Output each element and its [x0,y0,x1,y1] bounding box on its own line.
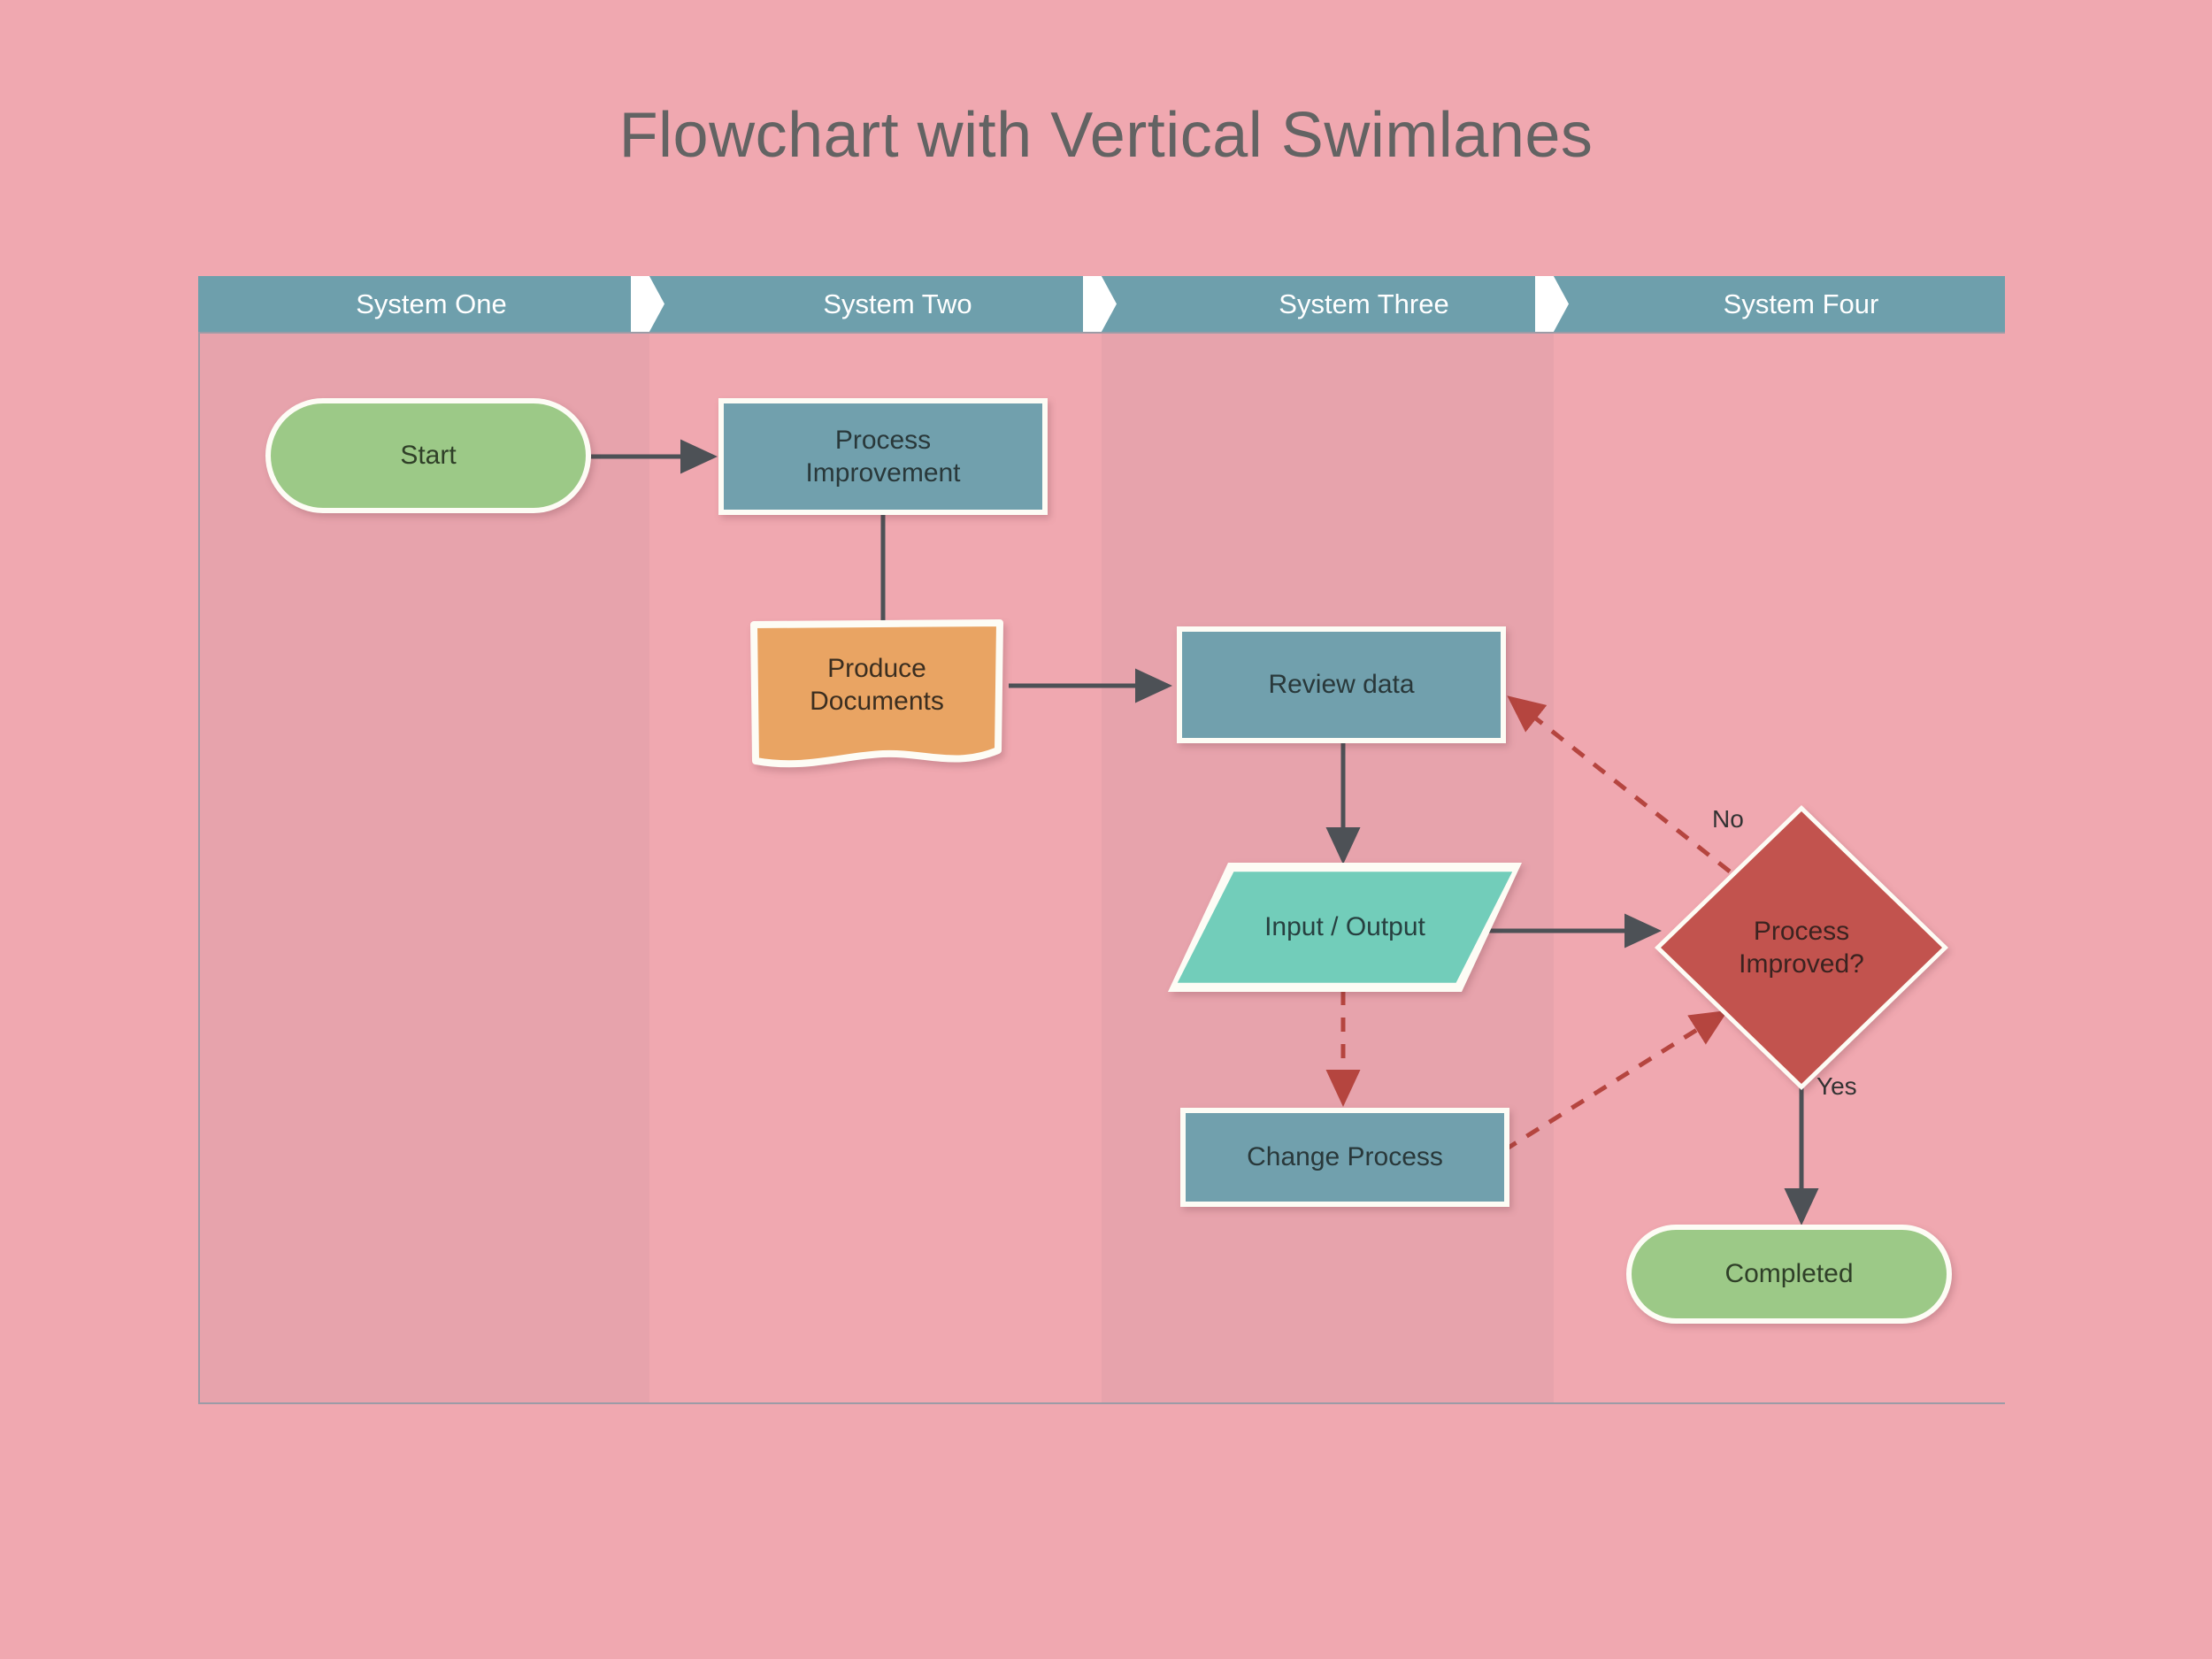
node-completed-label: Completed [1724,1257,1853,1290]
node-completed[interactable]: Completed [1626,1225,1952,1324]
node-start-label: Start [400,439,456,472]
lane-header-system-one[interactable]: System One [198,276,664,332]
node-review-data[interactable]: Review data [1177,626,1506,743]
node-input-output-label: Input / Output [1168,863,1522,992]
lane-header-system-two[interactable]: System Two [664,276,1131,332]
node-change-process[interactable]: Change Process [1180,1108,1509,1207]
node-process-improved[interactable]: Process Improved? [1655,805,1948,1090]
node-process-improvement-label-line1: Process [835,424,931,457]
node-process-improved-label-line1: Process [1754,915,1849,948]
node-process-improvement-label-line2: Improvement [805,457,960,489]
node-start[interactable]: Start [265,398,591,513]
node-produce-documents-label-line1: Produce [827,652,926,685]
node-produce-documents-label-line2: Documents [810,685,944,718]
node-change-process-label: Change Process [1247,1141,1443,1173]
page-title: Flowchart with Vertical Swimlanes [0,99,2212,172]
node-produce-documents[interactable]: Produce Documents [750,619,1003,772]
lane-header-system-three[interactable]: System Three [1131,276,1597,332]
edge-label-no: No [1712,805,1744,833]
node-input-output[interactable]: Input / Output [1168,863,1522,992]
lane-header-system-four[interactable]: System Four [1597,276,2005,332]
node-process-improvement[interactable]: Process Improvement [718,398,1048,515]
node-process-improved-label-line2: Improved? [1739,948,1864,980]
swimlane-header-row: System One System Two System Three Syste… [198,276,2005,332]
node-process-improved-label: Process Improved? [1655,805,1948,1090]
node-produce-documents-label: Produce Documents [750,619,1003,750]
edge-label-yes: Yes [1816,1072,1857,1101]
node-review-data-label: Review data [1268,668,1414,701]
